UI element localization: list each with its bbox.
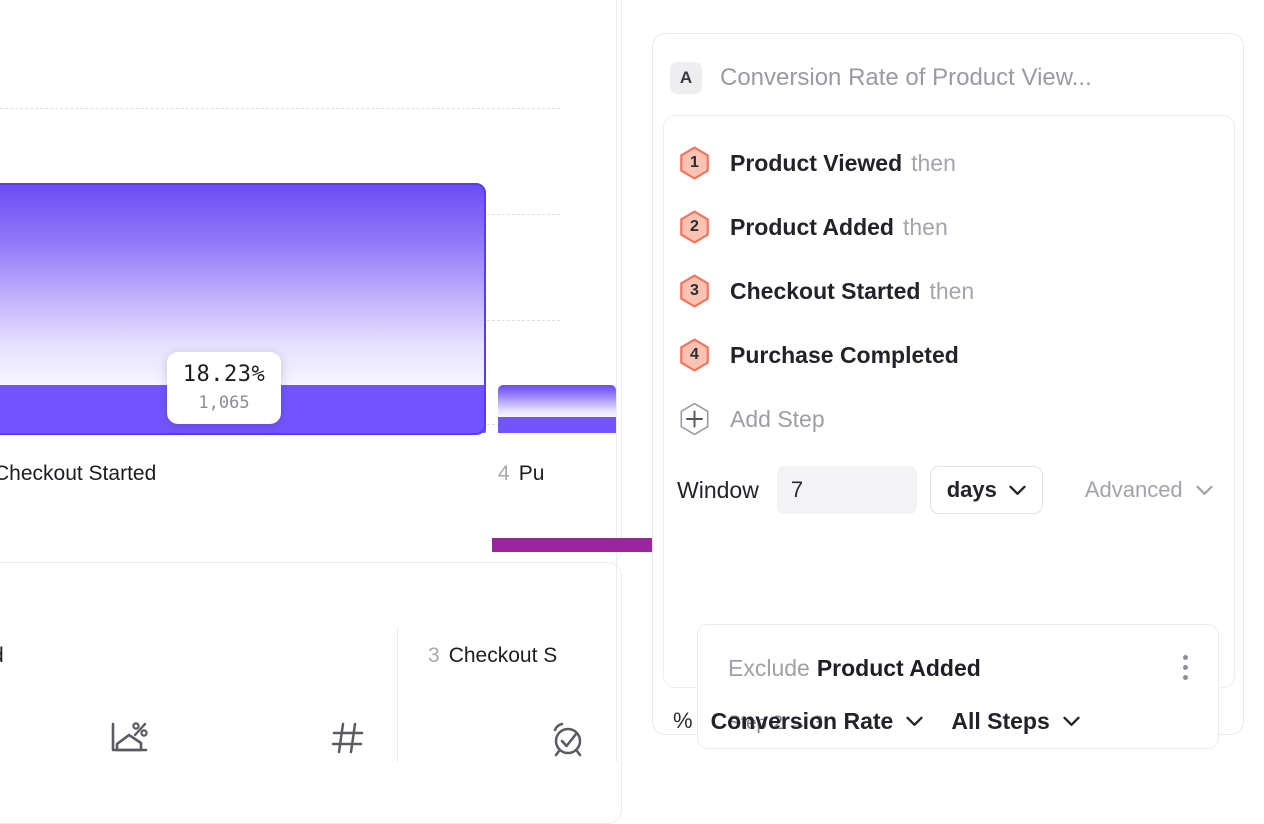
conversion-rate-icon[interactable]	[108, 720, 150, 763]
metric-letter-badge: A	[670, 62, 702, 94]
x-axis-label-checkout-started: Checkout Started	[0, 462, 156, 486]
time-to-convert-icon[interactable]	[548, 720, 588, 763]
kebab-menu-icon[interactable]	[1174, 652, 1196, 682]
steps-card: 1 Product Viewed then 2 Product Added th…	[663, 115, 1235, 688]
panel-title[interactable]: Conversion Rate of Product View...	[720, 64, 1092, 92]
pane-divider	[616, 0, 617, 762]
x-axis-label-purchase-completed: 4Pu	[498, 462, 544, 486]
metric-type-label: Conversion Rate	[711, 708, 894, 735]
chevron-down-icon	[1009, 485, 1026, 496]
tooltip-percent: 18.23%	[183, 364, 265, 386]
panel-header: A Conversion Rate of Product View...	[653, 34, 1243, 122]
exclude-title: ExcludeProduct Added	[728, 655, 981, 682]
panel-footer: % Conversion Rate All Steps	[673, 696, 1080, 746]
step-event-name[interactable]: Product Added	[730, 214, 894, 241]
step-number: 4	[690, 347, 699, 363]
step-event-name[interactable]: Purchase Completed	[730, 342, 959, 369]
kebab-dot	[1183, 655, 1188, 660]
gridline	[0, 108, 560, 109]
window-value-input[interactable]: 7	[777, 466, 917, 514]
step-number: 3	[690, 283, 699, 299]
advanced-label: Advanced	[1085, 477, 1183, 503]
window-unit-select[interactable]: days	[930, 466, 1043, 514]
exclude-event-name[interactable]: Product Added	[817, 655, 981, 681]
kebab-dot	[1183, 675, 1188, 680]
funnel-bar-purchase-completed[interactable]	[498, 385, 616, 417]
summary-label-checkout-started: 3Checkout S	[428, 644, 557, 668]
summary-card-divider	[397, 627, 398, 762]
funnel-step-4[interactable]: 4 Purchase Completed	[679, 335, 968, 375]
x-axis-index: 4	[498, 462, 510, 485]
kebab-dot	[1183, 665, 1188, 670]
chevron-down-icon	[1063, 716, 1080, 727]
step-scope-select[interactable]: All Steps	[951, 708, 1079, 735]
step-connector: then	[911, 150, 956, 177]
step-event-name[interactable]: Checkout Started	[730, 278, 920, 305]
tooltip-count: 1,065	[198, 395, 249, 412]
step-connector: then	[929, 278, 974, 305]
step-event-name[interactable]: Product Viewed	[730, 150, 902, 177]
count-icon[interactable]	[330, 720, 366, 761]
plus-hexagon-icon	[679, 402, 710, 436]
summary-label-text: Checkout S	[449, 644, 558, 667]
funnel-step-3[interactable]: 3 Checkout Started then	[679, 271, 974, 311]
exclude-prefix: Exclude	[728, 655, 810, 681]
chart-tooltip: 18.23% 1,065	[167, 352, 281, 424]
advanced-options-toggle[interactable]: Advanced	[1085, 477, 1213, 503]
window-unit-label: days	[947, 477, 997, 503]
funnel-step-2[interactable]: 2 Product Added then	[679, 207, 948, 247]
summary-label-index: 3	[428, 644, 440, 667]
funnel-step-1[interactable]: 1 Product Viewed then	[679, 143, 956, 183]
step-number-hexagon-icon: 4	[679, 338, 710, 372]
metric-type-select[interactable]: Conversion Rate	[711, 708, 924, 735]
step-number-hexagon-icon: 2	[679, 210, 710, 244]
query-builder-panel: A Conversion Rate of Product View... 1 P…	[652, 33, 1244, 735]
add-step-label: Add Step	[730, 406, 825, 433]
percent-symbol-icon: %	[673, 708, 693, 734]
step-number-hexagon-icon: 3	[679, 274, 710, 308]
step-scope-label: All Steps	[951, 708, 1049, 735]
summary-label-product-added: d	[0, 644, 4, 668]
step-number: 1	[690, 155, 699, 171]
chevron-down-icon	[906, 716, 923, 727]
window-label: Window	[677, 477, 759, 504]
chart-summary-card	[0, 562, 622, 824]
funnel-bar-purchase-completed-base[interactable]	[498, 417, 616, 433]
step-connector: then	[903, 214, 948, 241]
step-number-hexagon-icon: 1	[679, 146, 710, 180]
chart-pane: 18.23% 1,065 Checkout Started 4Pu d 3Che…	[0, 0, 617, 762]
add-step-button[interactable]: Add Step	[679, 399, 825, 439]
step-number: 2	[690, 219, 699, 235]
summary-label-text: d	[0, 644, 4, 667]
x-axis-label-text: Checkout Started	[0, 462, 156, 485]
x-axis-label-text: Pu	[519, 462, 545, 485]
conversion-window-row: Window 7 days Advanced	[677, 465, 1213, 515]
chevron-down-icon	[1196, 485, 1213, 496]
